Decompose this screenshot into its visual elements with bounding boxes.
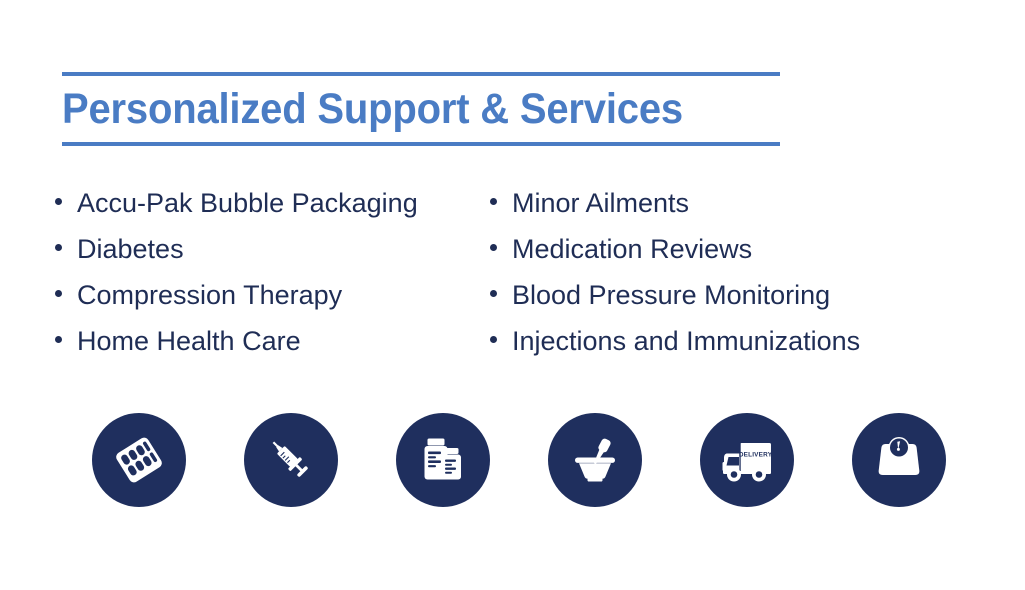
icon-badge-mortar-pestle: [548, 413, 642, 507]
icon-badge-blister-pack: [92, 413, 186, 507]
icon-badge-weight-scale: [852, 413, 946, 507]
poster-canvas: Personalized Support & Services Accu-Pak…: [0, 0, 1025, 590]
service-label: Diabetes: [77, 226, 184, 272]
title-rule-bottom: [62, 142, 780, 146]
bullet-icon: [55, 244, 62, 251]
service-label: Blood Pressure Monitoring: [512, 272, 830, 318]
list-item: Injections and Immunizations: [490, 318, 1025, 364]
icon-badge-delivery-truck: DELIVERY: [700, 413, 794, 507]
services-column-left: Accu-Pak Bubble Packaging Diabetes Compr…: [0, 180, 490, 364]
service-label: Minor Ailments: [512, 180, 689, 226]
icon-badge-syringe: [244, 413, 338, 507]
weight-scale-icon: [868, 429, 930, 491]
truck-body-label: DELIVERY: [739, 452, 773, 459]
mortar-pestle-icon: [564, 429, 626, 491]
list-item: Accu-Pak Bubble Packaging: [55, 180, 490, 226]
syringe-icon: [260, 429, 322, 491]
bullet-icon: [490, 290, 497, 297]
list-item: Blood Pressure Monitoring: [490, 272, 1025, 318]
icon-badge-pill-bottles: [396, 413, 490, 507]
title-block: Personalized Support & Services: [62, 72, 780, 146]
blister-pack-icon: [108, 429, 170, 491]
bullet-icon: [490, 198, 497, 205]
list-item: Minor Ailments: [490, 180, 1025, 226]
services-column-right: Minor Ailments Medication Reviews Blood …: [490, 180, 1025, 364]
service-label: Injections and Immunizations: [512, 318, 860, 364]
list-item: Medication Reviews: [490, 226, 1025, 272]
service-icon-row: DELIVERY: [92, 413, 952, 507]
pill-bottles-icon: [412, 429, 474, 491]
bullet-icon: [55, 290, 62, 297]
page-title: Personalized Support & Services: [62, 76, 730, 142]
services-lists: Accu-Pak Bubble Packaging Diabetes Compr…: [0, 180, 1025, 364]
service-label: Medication Reviews: [512, 226, 752, 272]
list-item: Home Health Care: [55, 318, 490, 364]
list-item: Diabetes: [55, 226, 490, 272]
bullet-icon: [55, 336, 62, 343]
service-label: Accu-Pak Bubble Packaging: [77, 180, 418, 226]
bullet-icon: [490, 244, 497, 251]
bullet-icon: [490, 336, 497, 343]
delivery-truck-icon: DELIVERY: [714, 427, 780, 493]
service-label: Compression Therapy: [77, 272, 342, 318]
list-item: Compression Therapy: [55, 272, 490, 318]
bullet-icon: [55, 198, 62, 205]
service-label: Home Health Care: [77, 318, 301, 364]
